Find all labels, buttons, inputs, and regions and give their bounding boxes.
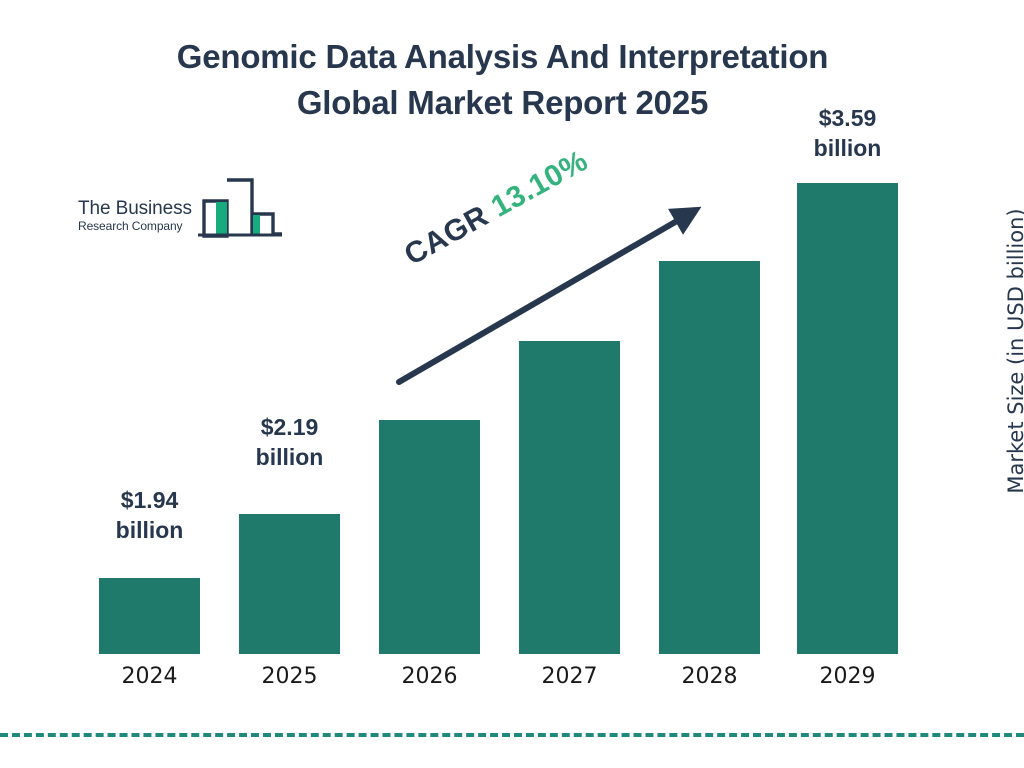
chart-page: Genomic Data Analysis And Interpretation…	[0, 0, 1024, 768]
bar-value-amount-2024: $1.94	[74, 485, 225, 515]
bar-2029	[797, 183, 898, 654]
bar-2024	[99, 578, 200, 654]
growth-arrow-icon	[385, 190, 715, 400]
bar-value-label-2029: $3.59 billion	[772, 103, 923, 163]
bar-value-amount-2025: $2.19	[214, 412, 365, 442]
footer-divider	[0, 733, 1024, 737]
bar-chart-plot: $1.94 billion $2.19 billion $3.59 billio…	[0, 0, 1024, 768]
x-tick-2029: 2029	[797, 664, 898, 689]
x-tick-2026: 2026	[379, 664, 480, 689]
x-tick-2025: 2025	[239, 664, 340, 689]
x-tick-2028: 2028	[659, 664, 760, 689]
bar-value-unit-2029: billion	[772, 133, 923, 163]
bar-value-unit-2024: billion	[74, 515, 225, 545]
y-axis-label: Market Size (in USD billion)	[1004, 191, 1024, 511]
x-tick-2027: 2027	[519, 664, 620, 689]
bar-2026	[379, 420, 480, 654]
bar-value-label-2025: $2.19 billion	[214, 412, 365, 472]
bar-value-unit-2025: billion	[214, 442, 365, 472]
x-tick-2024: 2024	[99, 664, 200, 689]
bar-value-amount-2029: $3.59	[772, 103, 923, 133]
bar-value-label-2024: $1.94 billion	[74, 485, 225, 545]
bar-2025	[239, 514, 340, 654]
